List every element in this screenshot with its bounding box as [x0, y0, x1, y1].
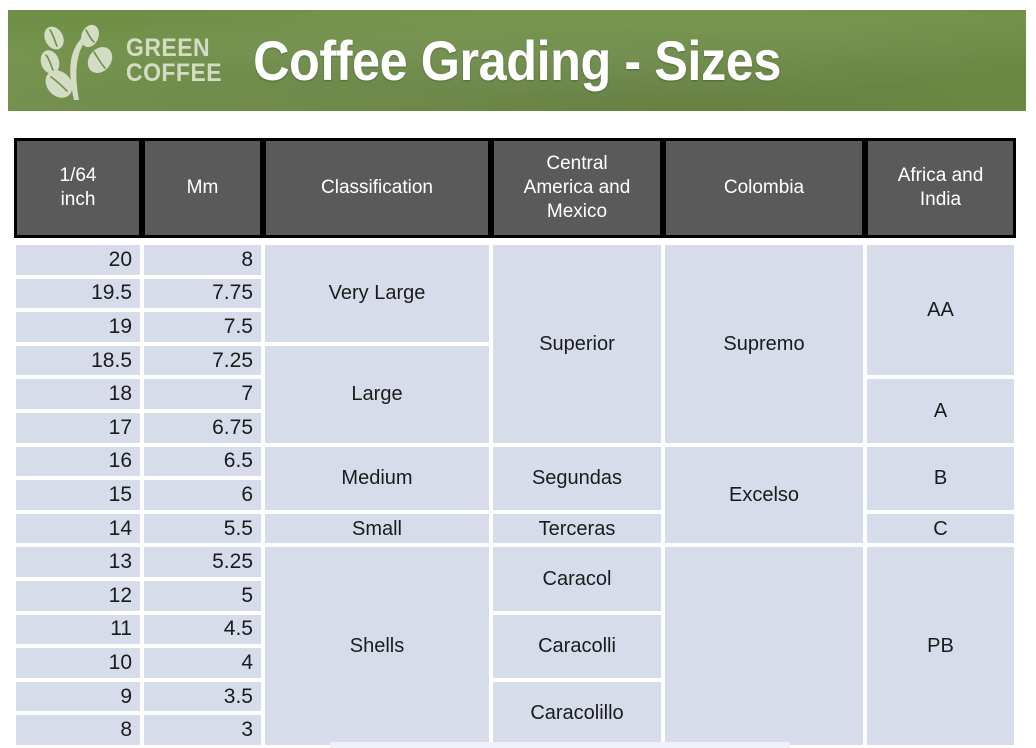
cell-mm-13[interactable]: 3.5: [144, 682, 261, 712]
cell-africa-india-0[interactable]: AA: [867, 245, 1014, 375]
cell-classification-1[interactable]: Large: [265, 346, 489, 443]
column-header-colombia[interactable]: Colombia: [663, 138, 865, 238]
brand-logo-text: GREEN COFFEE: [126, 36, 222, 86]
table-body: 2019.51918.51817161514131211109887.757.5…: [14, 243, 1016, 748]
cell-mm-14[interactable]: 3: [144, 715, 261, 745]
cell-colombia-2[interactable]: [665, 547, 863, 745]
cell-mm-8[interactable]: 5.5: [144, 514, 261, 544]
cell-inch-2[interactable]: 19: [16, 312, 140, 342]
header-banner: GREEN COFFEE Coffee Grading - Sizes: [8, 10, 1026, 111]
cell-mm-7[interactable]: 6: [144, 480, 261, 510]
cell-inch-9[interactable]: 13: [16, 547, 140, 577]
coffee-plant-icon: [30, 22, 122, 102]
cell-classification-0[interactable]: Very Large: [265, 245, 489, 342]
cell-inch-13[interactable]: 9: [16, 682, 140, 712]
column-header-central-america[interactable]: Central America and Mexico: [491, 138, 663, 238]
cell-mm-9[interactable]: 5.25: [144, 547, 261, 577]
cell-central-america-4[interactable]: Caracolli: [493, 615, 661, 678]
cell-mm-0[interactable]: 8: [144, 245, 261, 275]
cell-central-america-2[interactable]: Terceras: [493, 514, 661, 544]
cell-central-america-3[interactable]: Caracol: [493, 547, 661, 610]
cell-mm-6[interactable]: 6.5: [144, 447, 261, 477]
cell-africa-india-1[interactable]: A: [867, 379, 1014, 442]
column-header-classification[interactable]: Classification: [263, 138, 491, 238]
cell-africa-india-4[interactable]: PB: [867, 547, 1014, 745]
cell-mm-11[interactable]: 4.5: [144, 615, 261, 645]
cell-inch-5[interactable]: 17: [16, 413, 140, 443]
cell-inch-7[interactable]: 15: [16, 480, 140, 510]
table-header-row: 1/64 inchMmClassificationCentral America…: [14, 138, 1016, 238]
cell-inch-10[interactable]: 12: [16, 581, 140, 611]
cell-mm-1[interactable]: 7.75: [144, 279, 261, 309]
cell-mm-2[interactable]: 7.5: [144, 312, 261, 342]
cell-africa-india-2[interactable]: B: [867, 447, 1014, 510]
slide-page: GREEN COFFEE Coffee Grading - Sizes 1/64…: [0, 0, 1036, 748]
column-header-mm[interactable]: Mm: [142, 138, 263, 238]
cell-classification-2[interactable]: Medium: [265, 447, 489, 510]
cell-central-america-5[interactable]: Caracolillo: [493, 682, 661, 745]
cell-inch-4[interactable]: 18: [16, 379, 140, 409]
cell-colombia-1[interactable]: Excelso: [665, 447, 863, 544]
column-header-inch[interactable]: 1/64 inch: [14, 138, 142, 238]
cell-mm-10[interactable]: 5: [144, 581, 261, 611]
cell-mm-4[interactable]: 7: [144, 379, 261, 409]
cell-inch-0[interactable]: 20: [16, 245, 140, 275]
brand-logo: GREEN COFFEE: [30, 22, 245, 102]
cell-classification-4[interactable]: Shells: [265, 547, 489, 745]
cell-central-america-1[interactable]: Segundas: [493, 447, 661, 510]
cell-inch-8[interactable]: 14: [16, 514, 140, 544]
cell-inch-11[interactable]: 11: [16, 615, 140, 645]
cell-mm-12[interactable]: 4: [144, 648, 261, 678]
cell-colombia-0[interactable]: Supremo: [665, 245, 863, 443]
cell-inch-1[interactable]: 19.5: [16, 279, 140, 309]
cell-inch-6[interactable]: 16: [16, 447, 140, 477]
cell-mm-5[interactable]: 6.75: [144, 413, 261, 443]
cell-mm-3[interactable]: 7.25: [144, 346, 261, 376]
coffee-grading-table: 1/64 inchMmClassificationCentral America…: [0, 116, 1036, 748]
cell-classification-3[interactable]: Small: [265, 514, 489, 544]
slide-bottom-edge: [330, 742, 790, 748]
cell-inch-12[interactable]: 10: [16, 648, 140, 678]
cell-inch-14[interactable]: 8: [16, 715, 140, 745]
column-header-africa-india[interactable]: Africa and India: [865, 138, 1016, 238]
cell-inch-3[interactable]: 18.5: [16, 346, 140, 376]
cell-central-america-0[interactable]: Superior: [493, 245, 661, 443]
cell-africa-india-3[interactable]: C: [867, 514, 1014, 544]
